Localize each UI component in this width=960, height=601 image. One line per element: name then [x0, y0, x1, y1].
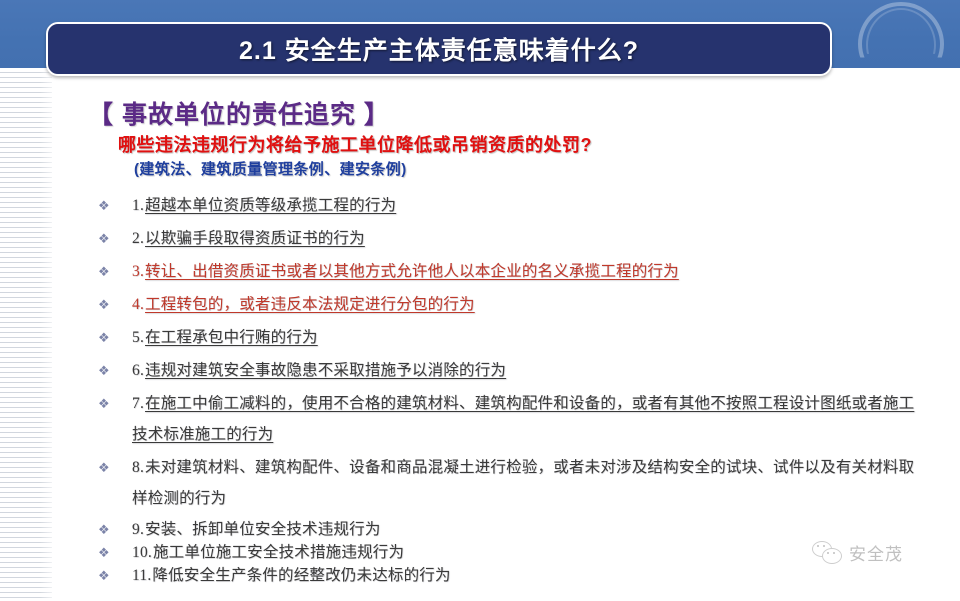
- list-item-text: 工程转包的，或者违反本法规定进行分包的行为: [145, 296, 475, 313]
- watermark-label: 安全茂: [849, 540, 903, 565]
- diamond-bullet-icon: ❖: [96, 452, 132, 483]
- violation-list: ❖1.超越本单位资质等级承揽工程的行为❖2.以欺骗手段取得资质证书的行为❖3.转…: [96, 190, 926, 585]
- list-item: ❖2.以欺骗手段取得资质证书的行为: [96, 223, 926, 254]
- list-item-body: 11.降低安全生产条件的经整改仍未达标的行为: [132, 562, 926, 589]
- list-item-number: 7.: [132, 395, 144, 412]
- left-stripe-fade: [40, 68, 62, 601]
- section-heading-bracketed: 【 事故单位的责任追究 】: [88, 95, 390, 131]
- list-item-text: 转让、出借资质证书或者以其他方式允许他人以本企业的名义承揽工程的行为: [145, 263, 679, 280]
- list-item-text: 以欺骗手段取得资质证书的行为: [145, 230, 365, 247]
- list-item: ❖3.转让、出借资质证书或者以其他方式允许他人以本企业的名义承揽工程的行为: [96, 256, 926, 287]
- list-item-text: 未对建筑材料、建筑构配件、设备和商品混凝土进行检验，或者未对涉及结构安全的试块、…: [132, 459, 914, 507]
- list-item-text: 在施工中偷工减料的，使用不合格的建筑材料、建筑构配件和设备的，或者有其他不按照工…: [132, 395, 914, 443]
- diamond-bullet-icon: ❖: [96, 562, 132, 589]
- list-item-text: 违规对建筑安全事故隐患不采取措施予以消除的行为: [145, 362, 506, 379]
- diamond-bullet-icon: ❖: [96, 256, 132, 287]
- list-item-body: 2.以欺骗手段取得资质证书的行为: [132, 223, 926, 254]
- list-item-body: 5.在工程承包中行贿的行为: [132, 322, 926, 353]
- list-item-number: 8.: [132, 459, 144, 476]
- diamond-bullet-icon: ❖: [96, 289, 132, 320]
- section-heading-question: 哪些违法违规行为将给予施工单位降低或吊销资质的处罚?: [118, 131, 592, 157]
- diamond-bullet-icon: ❖: [96, 388, 132, 419]
- diamond-bullet-icon: ❖: [96, 355, 132, 386]
- list-item-text: 安装、拆卸单位安全技术违规行为: [145, 521, 381, 538]
- slide-title-bar: 2.1 安全生产主体责任意味着什么?: [46, 22, 832, 76]
- list-item-body: 4.工程转包的，或者违反本法规定进行分包的行为: [132, 289, 926, 320]
- diamond-bullet-icon: ❖: [96, 322, 132, 353]
- list-item-number: 1.: [132, 197, 144, 214]
- list-item-text: 在工程承包中行贿的行为: [145, 329, 318, 346]
- list-item-number: 3.: [132, 263, 144, 280]
- list-item-body: 3.转让、出借资质证书或者以其他方式允许他人以本企业的名义承揽工程的行为: [132, 256, 926, 287]
- list-item-body: 6.违规对建筑安全事故隐患不采取措施予以消除的行为: [132, 355, 926, 386]
- wechat-icon: [812, 541, 842, 565]
- list-item-number: 9.: [132, 521, 144, 538]
- crescent-arc-inner-icon: [866, 8, 936, 82]
- list-item-number: 6.: [132, 362, 144, 379]
- list-item-body: 7.在施工中偷工减料的，使用不合格的建筑材料、建筑构配件和设备的，或者有其他不按…: [132, 388, 926, 450]
- diamond-bullet-icon: ❖: [96, 223, 132, 254]
- list-item: ❖8.未对建筑材料、建筑构配件、设备和商品混凝土进行检验，或者未对涉及结构安全的…: [96, 452, 926, 514]
- list-item-number: 10.: [132, 544, 152, 561]
- list-item: ❖5.在工程承包中行贿的行为: [96, 322, 926, 353]
- list-item-body: 8.未对建筑材料、建筑构配件、设备和商品混凝土进行检验，或者未对涉及结构安全的试…: [132, 452, 926, 514]
- list-item-number: 2.: [132, 230, 144, 247]
- list-item-number: 4.: [132, 296, 144, 313]
- list-item-text: 施工单位施工安全技术措施违规行为: [153, 544, 404, 561]
- list-item-number: 11.: [132, 567, 151, 584]
- slide-canvas: 2.1 安全生产主体责任意味着什么? 【 事故单位的责任追究 】 哪些违法违规行…: [0, 0, 960, 601]
- list-item: ❖4.工程转包的，或者违反本法规定进行分包的行为: [96, 289, 926, 320]
- list-item: ❖7.在施工中偷工减料的，使用不合格的建筑材料、建筑构配件和设备的，或者有其他不…: [96, 388, 926, 450]
- list-item-number: 5.: [132, 329, 144, 346]
- list-item-text: 超越本单位资质等级承揽工程的行为: [145, 197, 396, 214]
- list-item: ❖6.违规对建筑安全事故隐患不采取措施予以消除的行为: [96, 355, 926, 386]
- section-heading-sources: (建筑法、建筑质量管理条例、建安条例): [134, 158, 407, 179]
- page-title: 2.1 安全生产主体责任意味着什么?: [239, 31, 639, 67]
- list-item-body: 1.超越本单位资质等级承揽工程的行为: [132, 190, 926, 221]
- watermark: 安全茂: [812, 540, 903, 565]
- diamond-bullet-icon: ❖: [96, 190, 132, 221]
- list-item-text: 降低安全生产条件的经整改仍未达标的行为: [152, 567, 450, 584]
- list-item: ❖1.超越本单位资质等级承揽工程的行为: [96, 190, 926, 221]
- list-item: ❖11.降低安全生产条件的经整改仍未达标的行为: [96, 562, 926, 589]
